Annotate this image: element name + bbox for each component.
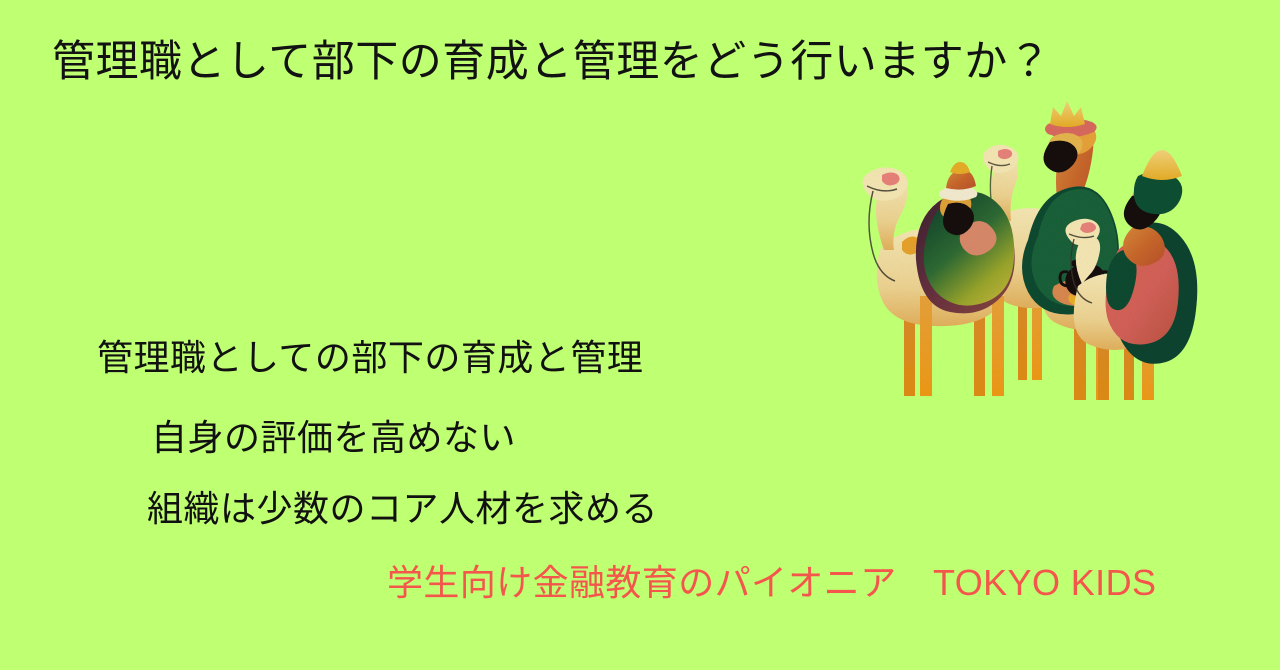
body-line-2: 自身の評価を高めない bbox=[151, 416, 516, 459]
body-line-3: 組織は少数のコア人材を求める bbox=[147, 487, 658, 530]
body-line-1: 管理職としての部下の育成と管理 bbox=[97, 336, 643, 379]
king-right bbox=[1106, 150, 1198, 364]
page-title: 管理職として部下の育成と管理をどう行いますか？ bbox=[52, 36, 1051, 90]
slide-canvas: 管理職として部下の育成と管理をどう行いますか？ 管理職としての部下の育成と管理 … bbox=[0, 0, 1280, 670]
footer-tagline: 学生向け金融教育のパイオニア TOKYO KIDS bbox=[387, 561, 1156, 604]
three-kings-on-camels-illustration bbox=[846, 100, 1256, 400]
